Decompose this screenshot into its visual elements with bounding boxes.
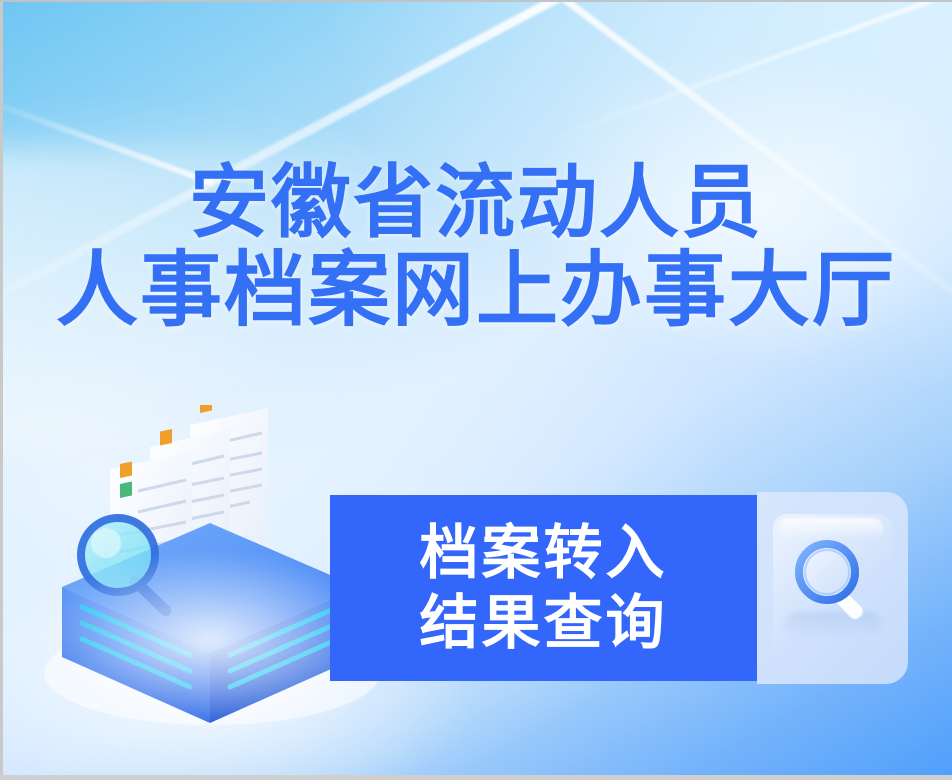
magnifier-icon bbox=[785, 530, 881, 640]
page-title-line-2: 人事档案网上办事大厅 bbox=[0, 246, 952, 336]
cta-button-label-line-2: 结果查询 bbox=[419, 588, 667, 658]
banner-stage: 安徽省流动人员 人事档案网上办事大厅 bbox=[0, 0, 952, 780]
archive-illustration bbox=[40, 405, 380, 735]
cta-group[interactable]: 档案转入 结果查询 bbox=[330, 495, 908, 681]
cta-icon-panel[interactable] bbox=[757, 492, 908, 684]
diagonal-streak-corner bbox=[544, 0, 940, 144]
frame-edge-top bbox=[0, 0, 952, 2]
cta-button-label-line-1: 档案转入 bbox=[419, 518, 667, 588]
page-title-line-1: 安徽省流动人员 bbox=[0, 160, 952, 246]
frame-edge-bottom bbox=[0, 775, 952, 780]
archive-transfer-result-query-button[interactable]: 档案转入 结果查询 bbox=[330, 495, 757, 681]
frame-edge-left bbox=[0, 0, 3, 780]
page-title: 安徽省流动人员 人事档案网上办事大厅 bbox=[0, 160, 952, 336]
